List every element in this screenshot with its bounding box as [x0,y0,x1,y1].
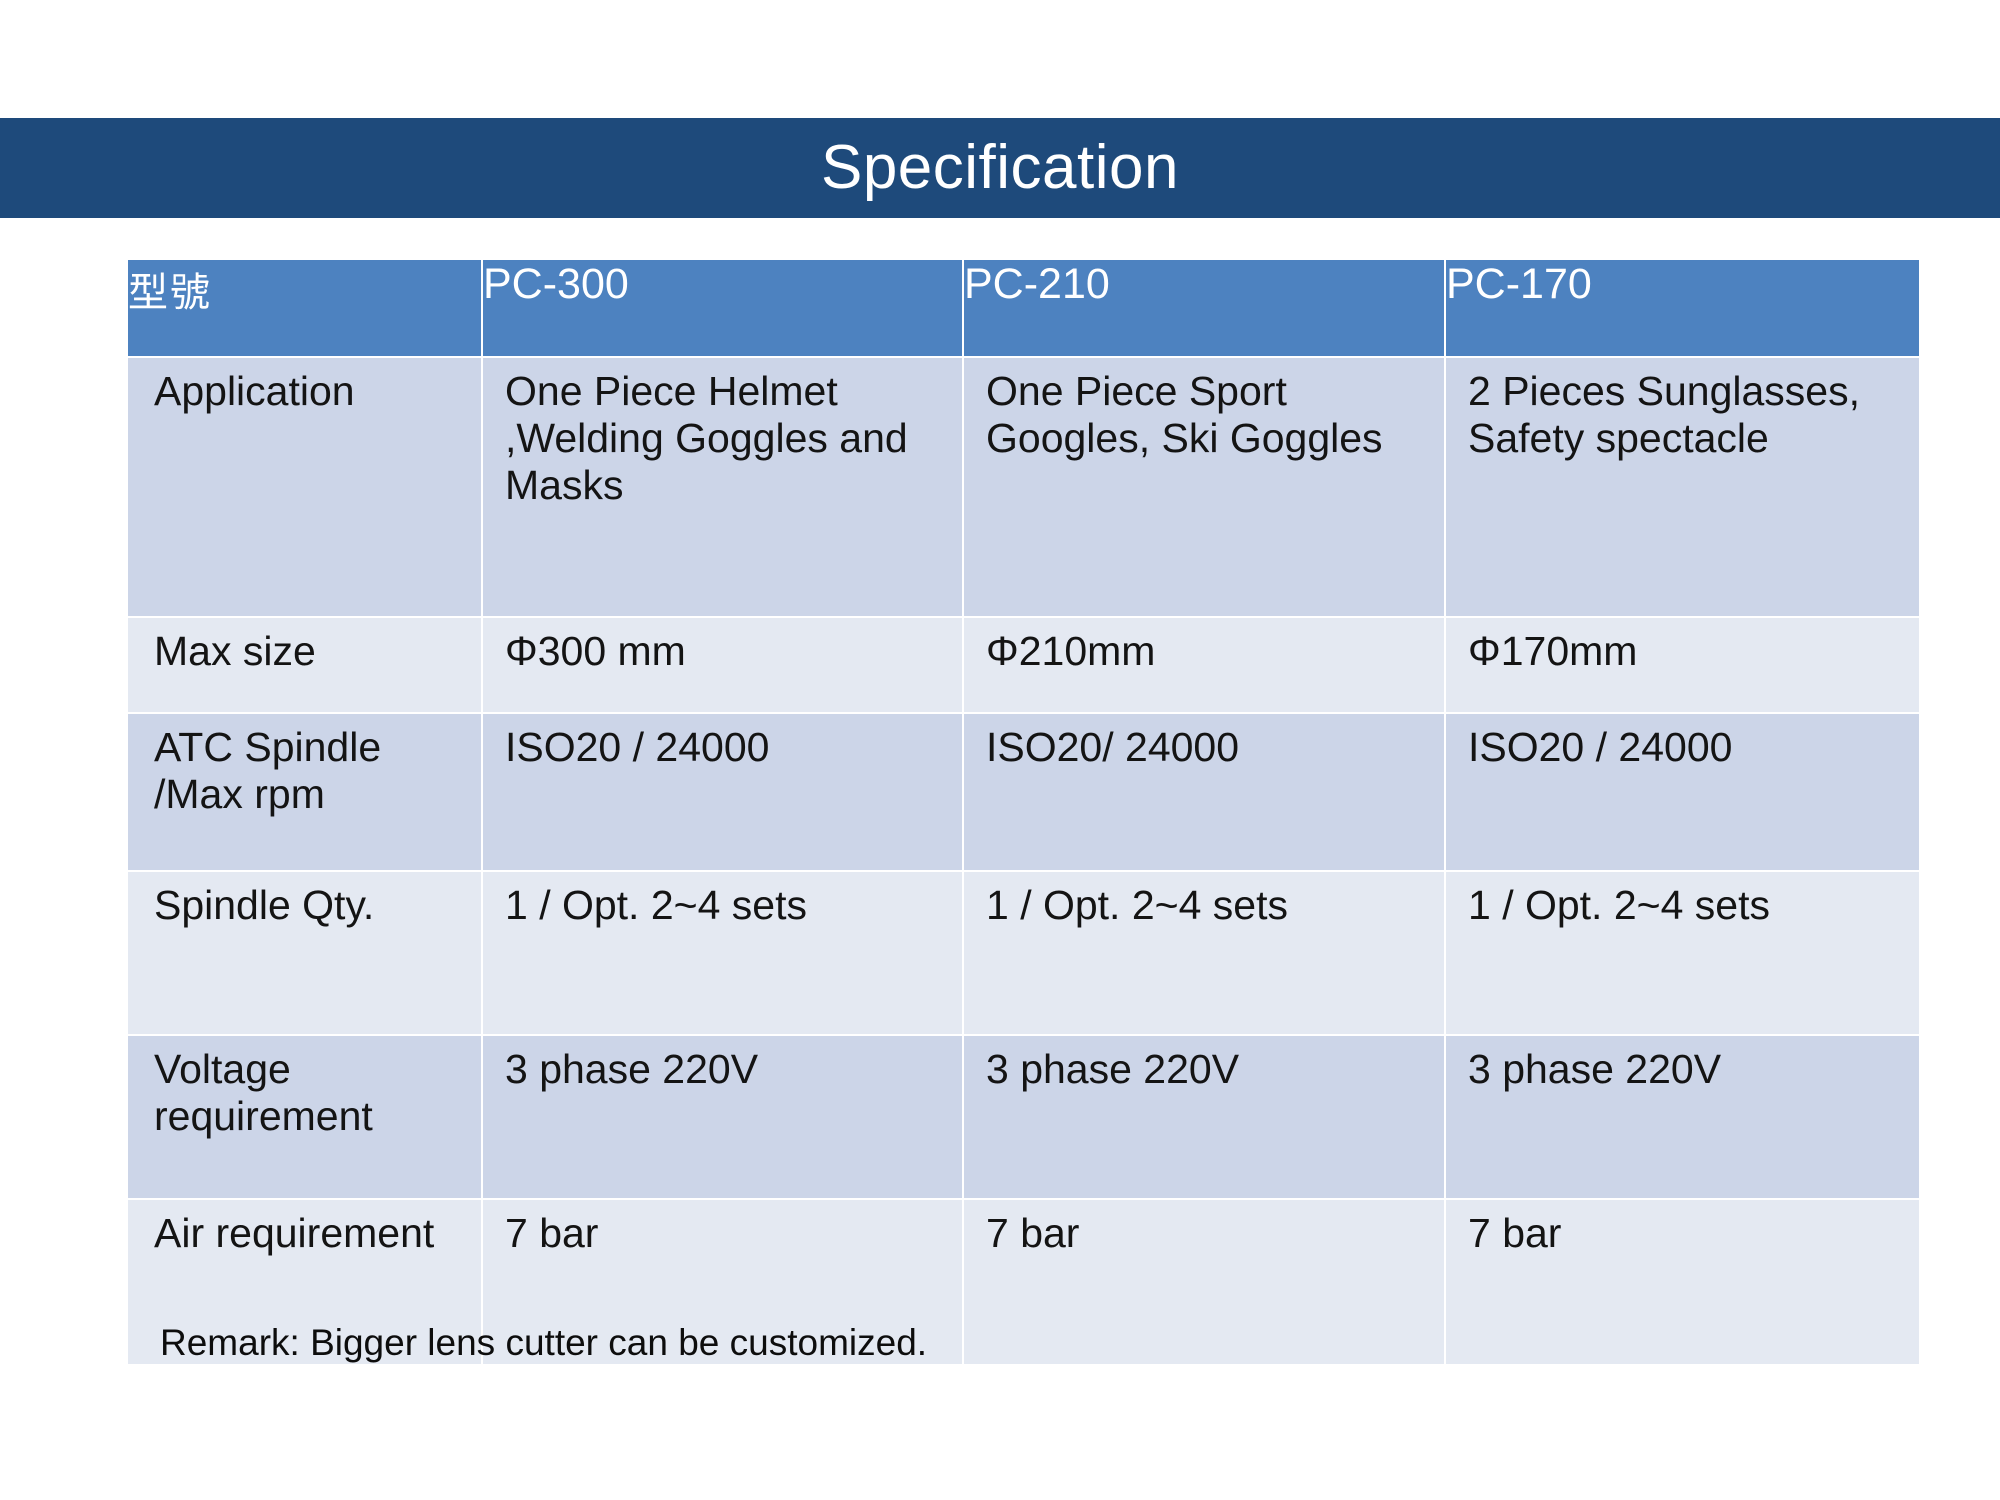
cell-application-pc300: One Piece Helmet ,Welding Goggles and Ma… [483,358,962,616]
column-header-model: 型號 [128,260,481,356]
cell-spindle-qty-pc210: 1 / Opt. 2~4 sets [964,872,1444,1034]
cell-atc-spindle-pc210: ISO20/ 24000 [964,714,1444,870]
table-header-row: 型號 PC-300 PC-210 PC-170 [128,260,1919,356]
table-row: ATC Spindle /Max rpm ISO20 / 24000 ISO20… [128,714,1919,870]
cell-application-pc210: One Piece Sport Googles, Ski Goggles [964,358,1444,616]
remark-text: Remark: Bigger lens cutter can be custom… [160,1322,927,1364]
row-label-voltage-requirement: Voltage requirement [128,1036,481,1198]
table-row: Max size Φ300 mm Φ210mm Φ170mm [128,618,1919,712]
column-header-pc210: PC-210 [964,260,1444,356]
column-header-pc170: PC-170 [1446,260,1919,356]
cell-max-size-pc300: Φ300 mm [483,618,962,712]
cell-spindle-qty-pc170: 1 / Opt. 2~4 sets [1446,872,1919,1034]
cell-voltage-pc210: 3 phase 220V [964,1036,1444,1198]
specification-table: 型號 PC-300 PC-210 PC-170 Application One … [126,258,1921,1366]
cell-atc-spindle-pc170: ISO20 / 24000 [1446,714,1919,870]
cell-max-size-pc170: Φ170mm [1446,618,1919,712]
cell-voltage-pc300: 3 phase 220V [483,1036,962,1198]
slide-title-banner: Specification [0,118,2000,218]
cell-air-pc210: 7 bar [964,1200,1444,1364]
table-row: Application One Piece Helmet ,Welding Go… [128,358,1919,616]
row-label-spindle-qty: Spindle Qty. [128,872,481,1034]
row-label-atc-spindle: ATC Spindle /Max rpm [128,714,481,870]
cell-atc-spindle-pc300: ISO20 / 24000 [483,714,962,870]
column-header-model-label: 型號 [128,271,212,315]
table-row: Spindle Qty. 1 / Opt. 2~4 sets 1 / Opt. … [128,872,1919,1034]
cell-air-pc170: 7 bar [1446,1200,1919,1364]
cell-voltage-pc170: 3 phase 220V [1446,1036,1919,1198]
cell-application-pc170: 2 Pieces Sunglasses, Safety spectacle [1446,358,1919,616]
cell-spindle-qty-pc300: 1 / Opt. 2~4 sets [483,872,962,1034]
page-title: Specification [0,118,2000,218]
column-header-pc300: PC-300 [483,260,962,356]
row-label-application: Application [128,358,481,616]
row-label-max-size: Max size [128,618,481,712]
cell-max-size-pc210: Φ210mm [964,618,1444,712]
table-row: Voltage requirement 3 phase 220V 3 phase… [128,1036,1919,1198]
